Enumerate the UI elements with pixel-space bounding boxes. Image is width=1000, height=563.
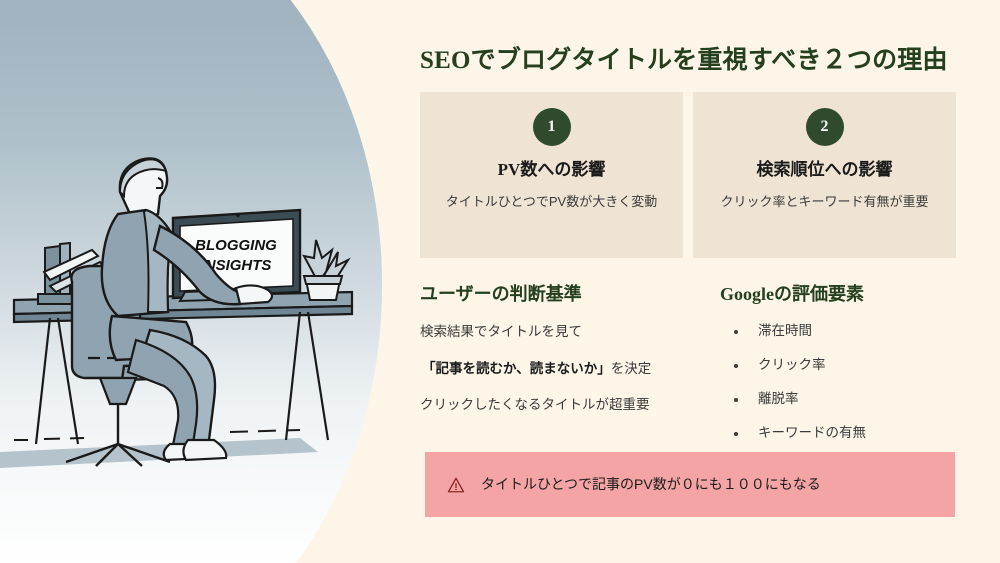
user-criteria-line-2-bold: 「記事を読むか、読まないか」	[422, 361, 611, 376]
list-item: クリック率	[748, 356, 980, 375]
user-criteria-heading: ユーザーの判断基準	[420, 280, 720, 306]
column-user-criteria: ユーザーの判断基準 検索結果でタイトルを見て 「記事を読むか、読まないか」を決定…	[420, 280, 720, 458]
detail-columns: ユーザーの判断基準 検索結果でタイトルを見て 「記事を読むか、読まないか」を決定…	[420, 280, 980, 458]
illustration-inner: BLOGGING INSIGHTS	[0, 0, 382, 563]
card-title-2: 検索順位への影響	[707, 160, 942, 180]
reason-cards: 1 PV数への影響 タイトルひとつでPV数が大きく変動 2 検索順位への影響 ク…	[420, 92, 956, 258]
blogging-desk-illustration: BLOGGING INSIGHTS	[0, 0, 382, 563]
google-factors-heading: Googleの評価要素	[720, 280, 980, 306]
user-criteria-line-2: 「記事を読むか、読まないか」を決定	[420, 359, 720, 379]
monitor-text-line1: BLOGGING	[195, 237, 277, 254]
page-title: SEOでブログタイトルを重視すべき２つの理由	[420, 40, 980, 76]
user-criteria-line-1: 検索結果でタイトルを見て	[420, 322, 720, 342]
card-badge-1: 1	[533, 108, 571, 146]
card-title-1: PV数への影響	[434, 160, 669, 180]
card-desc-1: タイトルひとつでPV数が大きく変動	[434, 192, 669, 212]
reason-card-1[interactable]: 1 PV数への影響 タイトルひとつでPV数が大きく変動	[420, 92, 683, 258]
user-criteria-line-3: クリックしたくなるタイトルが超重要	[420, 395, 720, 415]
alert-banner: タイトルひとつで記事のPV数が０にも１００にもなる	[425, 452, 955, 517]
slide-root: BLOGGING INSIGHTS	[0, 0, 1000, 563]
google-factors-list: 滞在時間 クリック率 離脱率 キーワードの有無	[720, 322, 980, 443]
reason-card-2[interactable]: 2 検索順位への影響 クリック率とキーワード有無が重要	[693, 92, 956, 258]
illustration-panel: BLOGGING INSIGHTS	[0, 0, 382, 563]
alert-text: タイトルひとつで記事のPV数が０にも１００にもなる	[481, 475, 821, 493]
column-google-factors: Googleの評価要素 滞在時間 クリック率 離脱率 キーワードの有無	[720, 280, 980, 458]
list-item: 離脱率	[748, 390, 980, 409]
list-item: 滞在時間	[748, 322, 980, 341]
card-desc-2: クリック率とキーワード有無が重要	[707, 192, 942, 212]
card-badge-2: 2	[806, 108, 844, 146]
content-panel: SEOでブログタイトルを重視すべき２つの理由 1 PV数への影響 タイトルひとつ…	[382, 0, 1000, 563]
list-item: キーワードの有無	[748, 424, 980, 443]
warning-triangle-icon	[447, 476, 465, 494]
illustration-ellipse-mask: BLOGGING INSIGHTS	[0, 0, 382, 563]
user-criteria-line-2-rest: を決定	[611, 361, 652, 376]
